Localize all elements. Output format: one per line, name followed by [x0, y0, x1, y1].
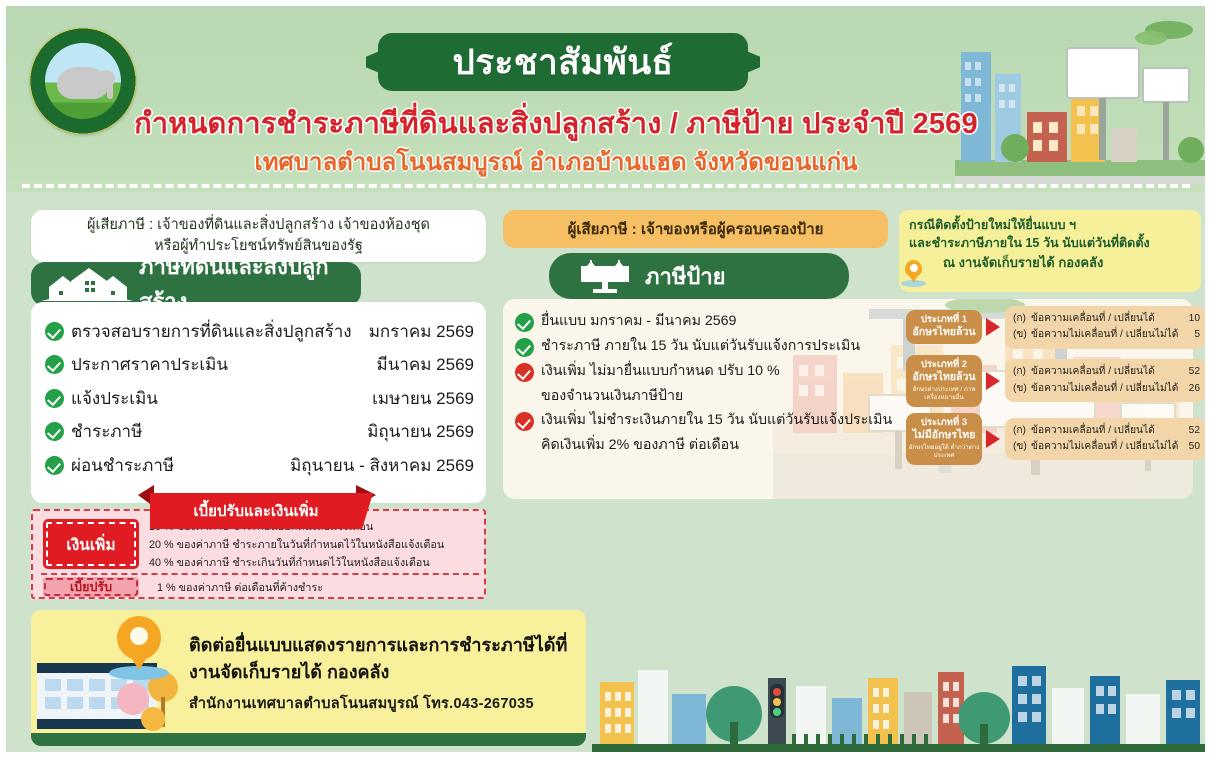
check-icon: [45, 456, 64, 475]
sign-type-number: ประเภทที่ 1: [908, 314, 980, 326]
sign-rate-key: (ก): [1013, 423, 1031, 439]
land-schedule-label: ตรวจสอบรายการที่ดินและสิ่งปลูกสร้าง: [71, 318, 369, 345]
sign-schedule-text-cont: คิดเงินเพิ่ม 2% ของภาษี ต่อเดือน: [515, 435, 935, 455]
fine-label: เบี้ยปรับ: [70, 577, 112, 597]
sign-rate-line: (ก)ข้อความเคลื่อนที่ / เปลี่ยนได้52: [1013, 364, 1200, 380]
sign-type-row: ประเภทที่ 3ไม่มีอักษรไทยอักษรไทยอยู่ใต้ …: [906, 413, 1206, 465]
poster-subtitle-org: เทศบาลตำบลโนนสมบูรณ์ อำเภอบ้านแฮด จังหวั…: [6, 142, 1106, 181]
land-tax-schedule-panel: ตรวจสอบรายการที่ดินและสิ่งปลูกสร้างมกราค…: [31, 302, 486, 503]
sign-type-name: อักษรไทยล้วน: [908, 326, 980, 339]
houses-icon: [41, 267, 133, 301]
contact-bottom-strip: [31, 733, 586, 746]
sign-rate-desc: ข้อความเคลื่อนที่ / เปลี่ยนได้: [1031, 311, 1185, 327]
contact-box: ติดต่อยื่นแบบแสดงรายการและการชำระภาษีได้…: [31, 610, 586, 746]
sign-type-rates: (ก)ข้อความเคลื่อนที่ / เปลี่ยนได้52(ข)ข้…: [1005, 359, 1206, 402]
poster-subtitle-main: กำหนดการชำระภาษีที่ดินและสิ่งปลูกสร้าง /…: [6, 100, 1106, 146]
land-schedule-date: มิถุนายน 2569: [367, 418, 474, 445]
sign-type-row: ประเภทที่ 2อักษรไทยล้วนอักษรต่างประเทศ /…: [906, 355, 1206, 407]
land-schedule-date: มีนาคม 2569: [377, 351, 475, 378]
land-schedule-label: แจ้งประเมิน: [71, 385, 372, 412]
sign-type-rates: (ก)ข้อความเคลื่อนที่ / เปลี่ยนได้52(ข)ข้…: [1005, 418, 1206, 461]
sign-type-badge: ประเภทที่ 2อักษรไทยล้วนอักษรต่างประเทศ /…: [906, 355, 982, 407]
sign-type-rate-table: ประเภทที่ 1อักษรไทยล้วน(ก)ข้อความเคลื่อน…: [906, 306, 1206, 471]
land-schedule-label: ชำระภาษี: [71, 418, 367, 445]
sign-rate-value: 50: [1185, 439, 1200, 455]
arrow-right-icon: [986, 430, 1000, 448]
land-schedule-date: มกราคม 2569: [369, 318, 474, 345]
contact-line-1: ติดต่อยื่นแบบแสดงรายการและการชำระภาษีได้…: [189, 632, 579, 659]
penalty-ribbon-title: เบี้ยปรับและเงินเพิ่ม: [150, 493, 362, 529]
sign-rate-key: (ข): [1013, 327, 1031, 343]
sign-schedule-row: เงินเพิ่ม ไม่ชำระเงินภายใน 15 วัน นับแต่…: [515, 410, 935, 431]
land-schedule-row: ประกาศราคาประเมินมีนาคม 2569: [45, 352, 474, 378]
notice-line-3: ณ งานจัดเก็บรายได้ กองคลัง: [909, 255, 1193, 272]
land-schedule-date: มิถุนายน - สิงหาคม 2569: [290, 452, 474, 479]
sign-rate-value: 10: [1185, 311, 1200, 327]
poster-header: ประชาสัมพันธ์ กำหนดการชำระภาษีที่ดินและส…: [6, 6, 1205, 192]
sign-rate-value: 5: [1190, 327, 1200, 343]
land-schedule-row: ผ่อนชำระภาษีมิถุนายน - สิงหาคม 2569: [45, 452, 474, 478]
sign-schedule-text: ยื่นแบบ มกราคม - มีนาคม 2569: [541, 311, 736, 331]
land-schedule-label: ประกาศราคาประเมิน: [71, 351, 377, 378]
sign-rate-key: (ข): [1013, 381, 1031, 397]
sign-schedule-text-cont: ของจำนวนเงินภาษีป้าย: [515, 386, 935, 406]
land-schedule-label: ผ่อนชำระภาษี: [71, 452, 290, 479]
penalty-ribbon-label: เบี้ยปรับและเงินเพิ่ม: [193, 499, 318, 523]
sign-rate-line: (ก)ข้อความเคลื่อนที่ / เปลี่ยนได้10: [1013, 311, 1200, 327]
bottom-city-illustration: [592, 662, 1205, 752]
contact-location-pin-icon: [117, 616, 161, 670]
sign-rate-value: 52: [1185, 423, 1200, 439]
sign-rate-desc: ข้อความไม่เคลื่อนที่ / เปลี่ยนไม่ได้: [1031, 327, 1190, 343]
notice-line-1: กรณีติดตั้งป้ายใหม่ให้ยื่นแบบ ฯ: [909, 217, 1193, 235]
new-sign-notice-box: กรณีติดตั้งป้ายใหม่ให้ยื่นแบบ ฯ และชำระภ…: [899, 210, 1201, 292]
check-icon-red: [515, 363, 534, 382]
fine-badge: เบี้ยปรับ: [43, 577, 139, 597]
land-schedule-row: ตรวจสอบรายการที่ดินและสิ่งปลูกสร้างมกราค…: [45, 318, 474, 344]
sign-rate-line: (ข)ข้อความไม่เคลื่อนที่ / เปลี่ยนไม่ได้2…: [1013, 381, 1200, 397]
sign-schedule-text: เงินเพิ่ม ไม่มายื่นแบบกำหนด ปรับ 10 %: [541, 361, 780, 381]
check-icon: [45, 355, 64, 374]
sign-type-note: อักษรต่างประเทศ / ภาพเครื่องหมายอื่น: [908, 386, 980, 402]
arrow-right-icon: [986, 372, 1000, 390]
sign-rate-desc: ข้อความไม่เคลื่อนที่ / เปลี่ยนไม่ได้: [1031, 439, 1185, 455]
penalty-divider: [41, 573, 479, 575]
sign-tax-items-list: ยื่นแบบ มกราคม - มีนาคม 2569ชำระภาษี ภาย…: [515, 311, 935, 460]
surcharge-line: 20 % ของค่าภาษี ชำระภายในวันที่กำหนดไว้ใ…: [149, 537, 479, 555]
fine-line: 1 % ของค่าภาษี ต่อเดือนที่ค้างชำระ: [157, 579, 323, 596]
sign-rate-line: (ก)ข้อความเคลื่อนที่ / เปลี่ยนได้52: [1013, 423, 1200, 439]
check-icon: [515, 338, 534, 357]
sign-type-note: อักษรไทยอยู่ใต้ ต่ำกว่าต่างประเทศ: [908, 444, 980, 460]
surcharge-badge: เงินเพิ่ม: [43, 519, 139, 569]
sign-rate-line: (ข)ข้อความไม่เคลื่อนที่ / เปลี่ยนไม่ได้5…: [1013, 439, 1200, 455]
arrow-right-icon: [986, 318, 1000, 336]
sign-rate-desc: ข้อความเคลื่อนที่ / เปลี่ยนได้: [1031, 423, 1185, 439]
sign-type-badge: ประเภทที่ 1อักษรไทยล้วน: [906, 310, 982, 344]
section-sign-title: ภาษีป้าย: [645, 259, 726, 294]
sign-taxpayer-label: ผู้เสียภาษี : เจ้าของหรือผู้ครอบครองป้าย: [568, 217, 824, 241]
land-schedule-date: เมษายน 2569: [372, 385, 474, 412]
sign-rate-key: (ก): [1013, 311, 1031, 327]
sign-rate-value: 52: [1185, 364, 1200, 380]
land-schedule-row: แจ้งประเมินเมษายน 2569: [45, 385, 474, 411]
billboard-icon: [575, 259, 635, 293]
contact-phone-line: สำนักงานเทศบาลตำบลโนนสมบูรณ์ โทร.043-267…: [189, 692, 579, 715]
sign-rate-value: 26: [1185, 381, 1200, 397]
sign-type-number: ประเภทที่ 3: [908, 417, 980, 429]
poster-title-badge: ประชาสัมพันธ์: [378, 33, 748, 91]
sign-rate-key: (ข): [1013, 439, 1031, 455]
sign-type-badge: ประเภทที่ 3ไม่มีอักษรไทยอักษรไทยอยู่ใต้ …: [906, 413, 982, 465]
sign-type-rates: (ก)ข้อความเคลื่อนที่ / เปลี่ยนได้10(ข)ข้…: [1005, 306, 1206, 349]
contact-line-2: งานจัดเก็บรายได้ กองคลัง: [189, 659, 579, 686]
sign-schedule-text: เงินเพิ่ม ไม่ชำระเงินภายใน 15 วัน นับแต่…: [541, 410, 892, 430]
sign-taxpayer-bar: ผู้เสียภาษี : เจ้าของหรือผู้ครอบครองป้าย: [503, 210, 888, 248]
sign-type-name: อักษรไทยล้วน: [908, 371, 980, 384]
sign-schedule-row: ยื่นแบบ มกราคม - มีนาคม 2569: [515, 311, 935, 332]
check-icon-red: [515, 412, 534, 431]
check-icon: [515, 313, 534, 332]
surcharge-label: เงินเพิ่ม: [66, 532, 115, 557]
check-icon: [45, 422, 64, 441]
header-divider: [22, 184, 1190, 188]
section-header-land-tax: ภาษีที่ดินและสิ่งปลูกสร้าง: [31, 262, 361, 306]
sign-type-row: ประเภทที่ 1อักษรไทยล้วน(ก)ข้อความเคลื่อน…: [906, 306, 1206, 349]
notice-line-2: และชำระภาษีภายใน 15 วัน นับแต่วันที่ติดต…: [909, 235, 1193, 253]
sign-type-name: ไม่มีอักษรไทย: [908, 429, 980, 442]
sign-schedule-row: เงินเพิ่ม ไม่มายื่นแบบกำหนด ปรับ 10 %: [515, 361, 935, 382]
section-header-sign-tax: ภาษีป้าย: [549, 253, 849, 299]
location-pin-icon: [905, 260, 922, 277]
sign-rate-desc: ข้อความเคลื่อนที่ / เปลี่ยนได้: [1031, 364, 1185, 380]
sign-schedule-row: ชำระภาษี ภายใน 15 วัน นับแต่วันรับแจ้งกา…: [515, 336, 935, 357]
sign-rate-desc: ข้อความไม่เคลื่อนที่ / เปลี่ยนไม่ได้: [1031, 381, 1185, 397]
check-icon: [45, 389, 64, 408]
poster-title: ประชาสัมพันธ์: [452, 35, 673, 90]
infographic-poster: ประชาสัมพันธ์ กำหนดการชำระภาษีที่ดินและส…: [0, 0, 1211, 758]
sign-rate-line: (ข)ข้อความไม่เคลื่อนที่ / เปลี่ยนไม่ได้5: [1013, 327, 1200, 343]
sign-schedule-text: ชำระภาษี ภายใน 15 วัน นับแต่วันรับแจ้งกา…: [541, 336, 860, 356]
land-schedule-row: ชำระภาษีมิถุนายน 2569: [45, 419, 474, 445]
surcharge-line: 40 % ของค่าภาษี ชำระเกินวันที่กำหนดไว้ใน…: [149, 555, 479, 573]
sign-rate-key: (ก): [1013, 364, 1031, 380]
land-taxpayer-line1: ผู้เสียภาษี : เจ้าของที่ดินและสิ่งปลูกสร…: [87, 215, 430, 236]
sign-type-number: ประเภทที่ 2: [908, 359, 980, 371]
check-icon: [45, 322, 64, 341]
